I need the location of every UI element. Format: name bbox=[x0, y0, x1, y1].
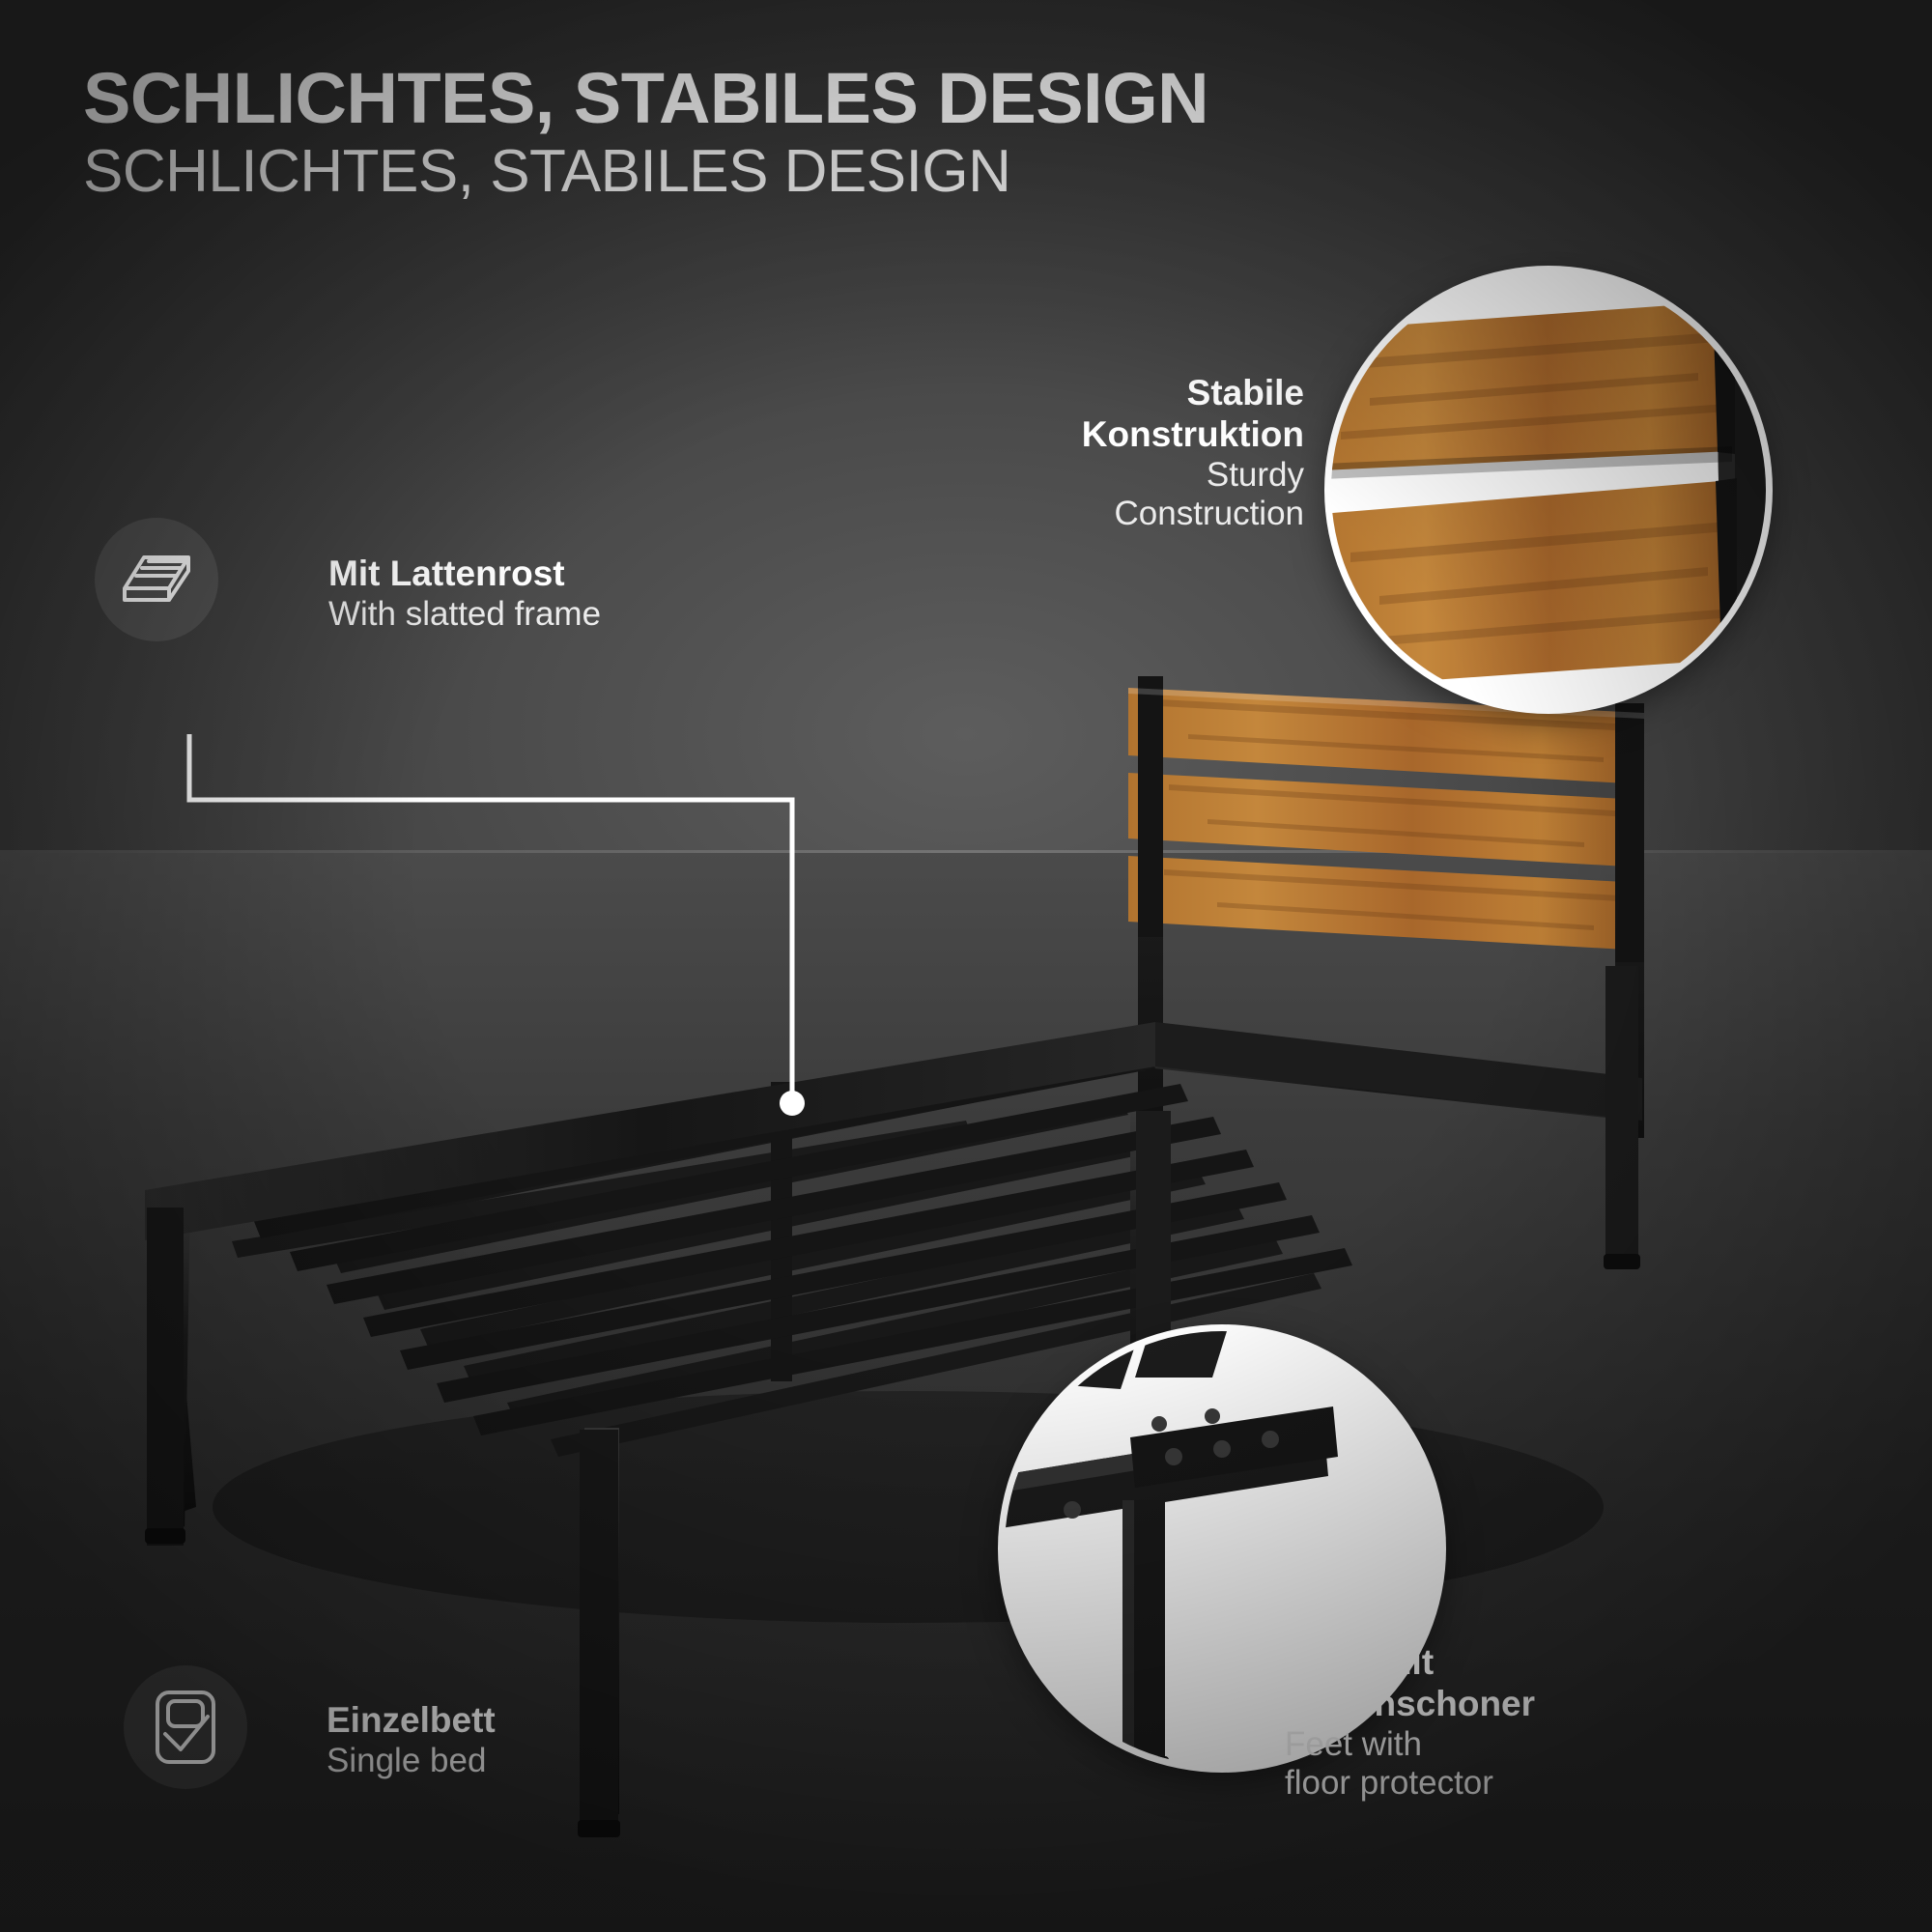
sturdy-title-en-line1: Sturdy bbox=[1014, 456, 1304, 496]
headline-en: SCHLICHTES, STABILES DESIGN bbox=[83, 140, 1208, 205]
product-feature-image: SCHLICHTES, STABILES DESIGN SCHLICHTES, … bbox=[0, 0, 1932, 1932]
sturdy-title-en-line2: Construction bbox=[1014, 495, 1304, 534]
slatted-frame-icon bbox=[119, 550, 194, 610]
feet-title-en-line2: floor protector bbox=[1285, 1764, 1700, 1804]
single-bed-title-en: Single bed bbox=[327, 1742, 496, 1781]
sturdy-title-de-line2: Konstruktion bbox=[1014, 414, 1304, 456]
feet-title-de-line1: Füße mit bbox=[1285, 1642, 1700, 1684]
single-bed-title-de: Einzelbett bbox=[327, 1700, 496, 1742]
slatted-frame-title-de: Mit Lattenrost bbox=[328, 554, 601, 595]
slatted-frame-badge bbox=[95, 518, 218, 641]
sturdy-construction-detail bbox=[1331, 272, 1766, 707]
sturdy-construction-label: Stabile Konstruktion Sturdy Construction bbox=[1014, 373, 1304, 534]
single-bed-icon bbox=[152, 1688, 219, 1767]
feet-floor-protector-label: Füße mit Bodenschoner Feet with floor pr… bbox=[1285, 1642, 1700, 1804]
single-bed-label: Einzelbett Single bed bbox=[327, 1700, 496, 1781]
sturdy-title-de-line1: Stabile bbox=[1014, 373, 1304, 414]
single-bed-badge bbox=[124, 1665, 247, 1789]
feet-title-de-line2: Bodenschoner bbox=[1285, 1684, 1700, 1725]
slatted-frame-label: Mit Lattenrost With slatted frame bbox=[328, 554, 601, 635]
headline-de: SCHLICHTES, STABILES DESIGN bbox=[83, 62, 1208, 136]
feet-title-en-line1: Feet with bbox=[1285, 1725, 1700, 1765]
headline: SCHLICHTES, STABILES DESIGN SCHLICHTES, … bbox=[83, 62, 1208, 205]
slatted-frame-title-en: With slatted frame bbox=[328, 595, 601, 635]
zoom-circle-sturdy-construction bbox=[1331, 272, 1766, 707]
